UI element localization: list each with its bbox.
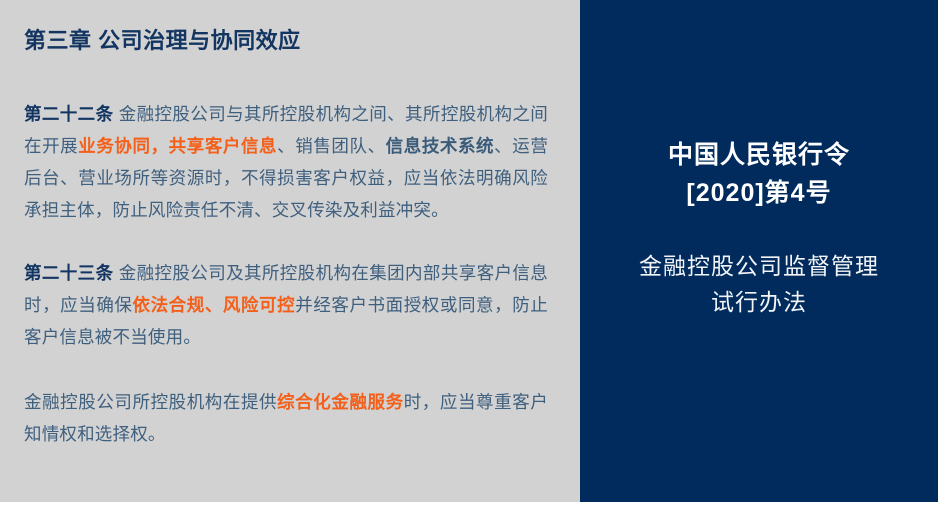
highlight-compliance-risk: 依法合规、风险可控	[133, 295, 296, 315]
article-paragraph-extra: 金融控股公司所控股机构在提供综合化金融服务时，应当尊重客户知情权和选择权。	[24, 386, 548, 450]
highlight-business-synergy: 业务协同，共享客户信息	[78, 136, 277, 156]
document-title: 中国人民银行令 [2020]第4号	[580, 136, 938, 212]
article-paragraph-22: 第二十二条 金融控股公司与其所控股机构之间、其所控股机构之间在开展业务协同，共享…	[24, 98, 548, 226]
extra-text-part1: 金融控股公司所控股机构在提供	[24, 392, 277, 412]
article-paragraph-23: 第二十三条 金融控股公司及其所控股机构在集团内部共享客户信息时，应当确保依法合规…	[24, 257, 548, 353]
emphasis-it-systems: 信息技术系统	[386, 136, 495, 156]
article-text-22-part2: 、销售团队、	[277, 136, 386, 156]
bottom-strip	[0, 502, 938, 506]
article-label-23: 第二十三条	[24, 263, 113, 283]
document-subtitle-line2: 试行办法	[580, 284, 938, 320]
chapter-heading: 第三章 公司治理与协同效应	[24, 28, 301, 54]
document-title-line2: [2020]第4号	[580, 174, 938, 212]
document-title-line1: 中国人民银行令	[668, 141, 850, 169]
slide-root: 第三章 公司治理与协同效应 第二十二条 金融控股公司与其所控股机构之间、其所控股…	[0, 0, 938, 506]
title-panel: 中国人民银行令 [2020]第4号 金融控股公司监督管理 试行办法 Gartne…	[580, 0, 938, 502]
document-subtitle-line1: 金融控股公司监督管理	[639, 253, 879, 279]
content-panel: 第三章 公司治理与协同效应 第二十二条 金融控股公司与其所控股机构之间、其所控股…	[0, 0, 580, 502]
article-label-22: 第二十二条	[24, 104, 113, 124]
document-subtitle: 金融控股公司监督管理 试行办法	[580, 248, 938, 320]
highlight-integrated-services: 综合化金融服务	[277, 392, 404, 412]
